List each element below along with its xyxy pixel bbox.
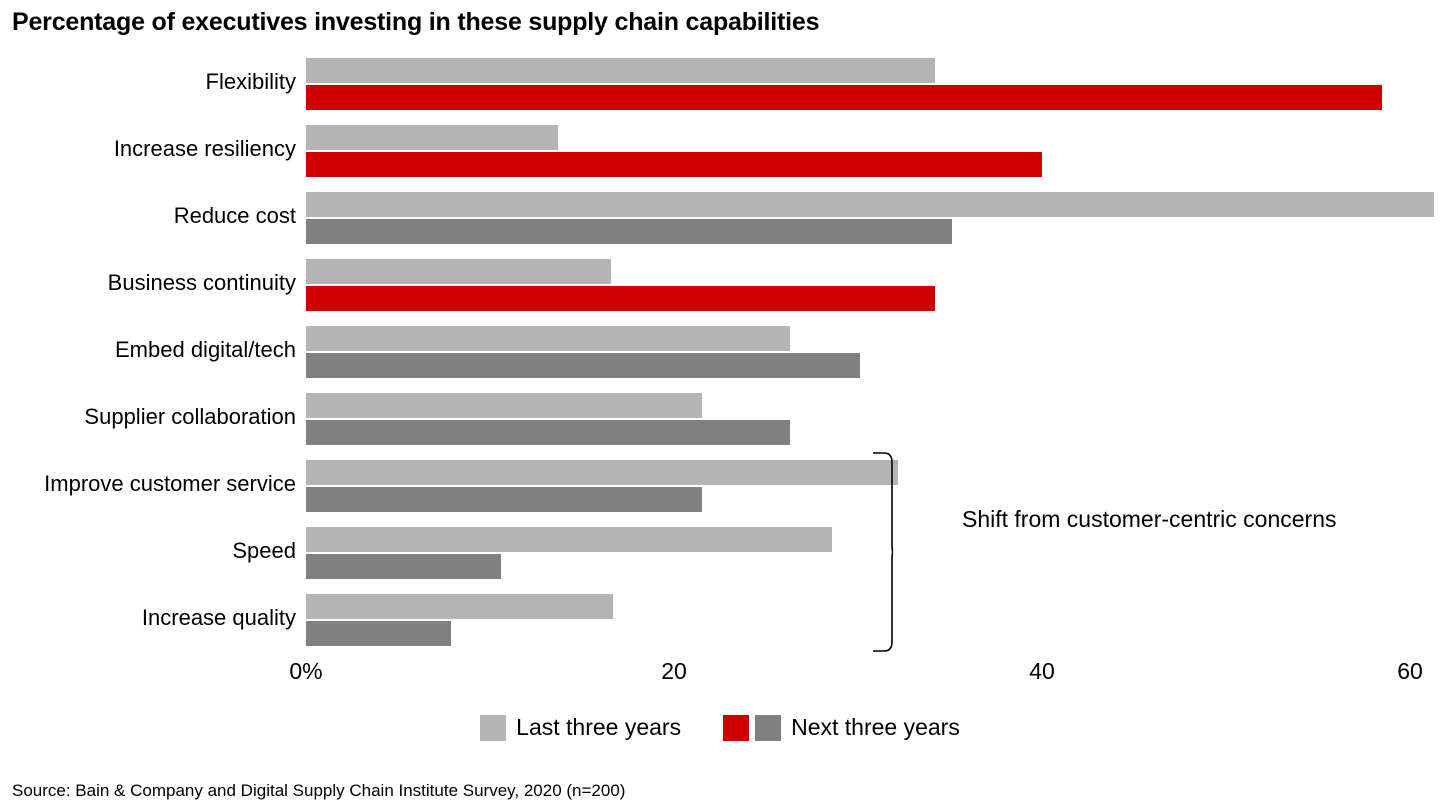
category-label: Improve customer service (0, 473, 296, 495)
category-label: Reduce cost (0, 205, 296, 227)
category-label: Increase quality (0, 607, 296, 629)
bar-next-three-years (306, 554, 501, 579)
annotation-bracket (872, 452, 894, 652)
chart-category-row: Reduce cost (0, 192, 1440, 248)
chart-plot-area: FlexibilityIncrease resiliencyReduce cos… (0, 58, 1440, 658)
bar-last-three-years (306, 460, 898, 485)
bar-last-three-years (306, 125, 558, 150)
bar-next-three-years (306, 152, 1042, 177)
annotation-label: Shift from customer-centric concerns (962, 506, 1337, 533)
x-tick-label: 60 (1397, 658, 1423, 685)
category-label: Business continuity (0, 272, 296, 294)
legend-swatch (723, 715, 749, 741)
bar-last-three-years (306, 192, 1434, 217)
bar-next-three-years (306, 353, 860, 378)
x-tick-label: 20 (661, 658, 687, 685)
bar-last-three-years (306, 326, 790, 351)
legend-entry: Last three years (480, 714, 723, 741)
chart-category-row: Speed (0, 527, 1440, 583)
category-label: Embed digital/tech (0, 339, 296, 361)
bar-next-three-years (306, 85, 1382, 110)
bar-last-three-years (306, 393, 702, 418)
chart-legend: Last three yearsNext three years (0, 714, 1440, 741)
chart-category-row: Flexibility (0, 58, 1440, 114)
category-label: Increase resiliency (0, 138, 296, 160)
bar-next-three-years (306, 286, 935, 311)
legend-swatch (755, 715, 781, 741)
page-title: Percentage of executives investing in th… (12, 8, 819, 37)
chart-category-row: Embed digital/tech (0, 326, 1440, 382)
chart-category-row: Business continuity (0, 259, 1440, 315)
legend-swatch (480, 715, 506, 741)
legend-entry: Next three years (723, 714, 960, 741)
bar-last-three-years (306, 58, 935, 83)
bar-next-three-years (306, 420, 790, 445)
legend-label: Last three years (516, 714, 681, 741)
x-tick-label: 40 (1029, 658, 1055, 685)
x-axis: 0%204060 (0, 658, 1440, 698)
category-label: Speed (0, 540, 296, 562)
chart-category-row: Increase resiliency (0, 125, 1440, 181)
bar-last-three-years (306, 259, 611, 284)
bar-next-three-years (306, 219, 952, 244)
source-note: Source: Bain & Company and Digital Suppl… (12, 781, 625, 801)
category-label: Flexibility (0, 71, 296, 93)
bar-last-three-years (306, 594, 613, 619)
category-label: Supplier collaboration (0, 406, 296, 428)
legend-label: Next three years (791, 714, 960, 741)
chart-category-row: Supplier collaboration (0, 393, 1440, 449)
bar-next-three-years (306, 621, 451, 646)
chart-category-row: Increase quality (0, 594, 1440, 650)
x-tick-label: 0% (289, 658, 322, 685)
bar-next-three-years (306, 487, 702, 512)
bar-last-three-years (306, 527, 832, 552)
